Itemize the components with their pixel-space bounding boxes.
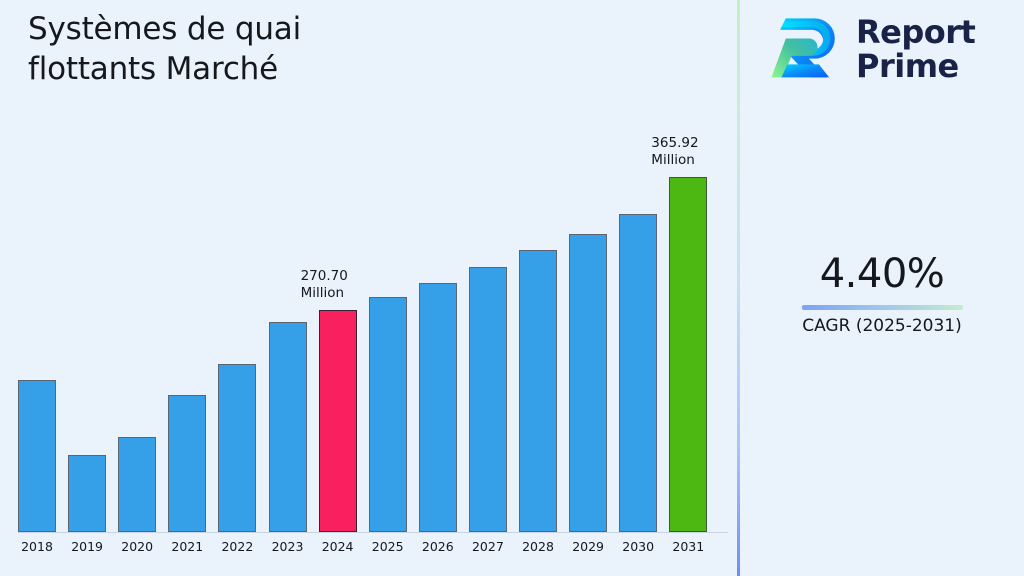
bar-2031	[669, 177, 707, 532]
x-axis-tick-2025: 2025	[363, 539, 413, 554]
bar-2024	[319, 310, 357, 532]
x-axis-tick-2029: 2029	[563, 539, 613, 554]
x-axis-tick-2021: 2021	[162, 539, 212, 554]
bar-2018	[18, 380, 56, 532]
bar-2028	[519, 250, 557, 532]
x-axis-tick-2022: 2022	[212, 539, 262, 554]
report-prime-logo-icon	[770, 14, 842, 86]
cagr-caption: CAGR (2025-2031)	[740, 316, 1024, 336]
bar-value-label-2031: 365.92 Million	[651, 135, 731, 170]
x-axis-tick-2020: 2020	[112, 539, 162, 554]
bar-chart-plot: 201820192020202120222023270.70 Million20…	[0, 0, 737, 576]
cagr-value: 4.40%	[740, 252, 1024, 296]
bar-2025	[369, 297, 407, 532]
x-axis-tick-2024: 2024	[313, 539, 363, 554]
x-axis-tick-2027: 2027	[463, 539, 513, 554]
brand-wordmark: Report Prime	[856, 16, 975, 83]
cagr-block: 4.40% CAGR (2025-2031)	[740, 252, 1024, 336]
bar-2022	[218, 364, 256, 532]
bar-2029	[569, 234, 607, 532]
x-axis-tick-2031: 2031	[663, 539, 713, 554]
x-axis-tick-2018: 2018	[12, 539, 62, 554]
bar-2020	[118, 437, 156, 532]
bar-2023	[269, 322, 307, 532]
x-axis-tick-2030: 2030	[613, 539, 663, 554]
cagr-divider-rule	[802, 305, 963, 310]
bar-2026	[419, 283, 457, 532]
brand-panel: Report Prime 4.40% CAGR (2025-2031)	[740, 0, 1024, 576]
x-axis-tick-2019: 2019	[62, 539, 112, 554]
x-axis-tick-2028: 2028	[513, 539, 563, 554]
page-root: Systèmes de quai flottants Marché 201820…	[0, 0, 1024, 576]
bar-2019	[68, 455, 106, 532]
x-axis-baseline	[18, 532, 728, 533]
brand-logo: Report Prime	[770, 14, 975, 86]
x-axis-tick-2026: 2026	[413, 539, 463, 554]
chart-panel: Systèmes de quai flottants Marché 201820…	[0, 0, 737, 576]
x-axis-tick-2023: 2023	[263, 539, 313, 554]
bar-2027	[469, 267, 507, 532]
bar-2021	[168, 395, 206, 532]
bar-2030	[619, 214, 657, 532]
